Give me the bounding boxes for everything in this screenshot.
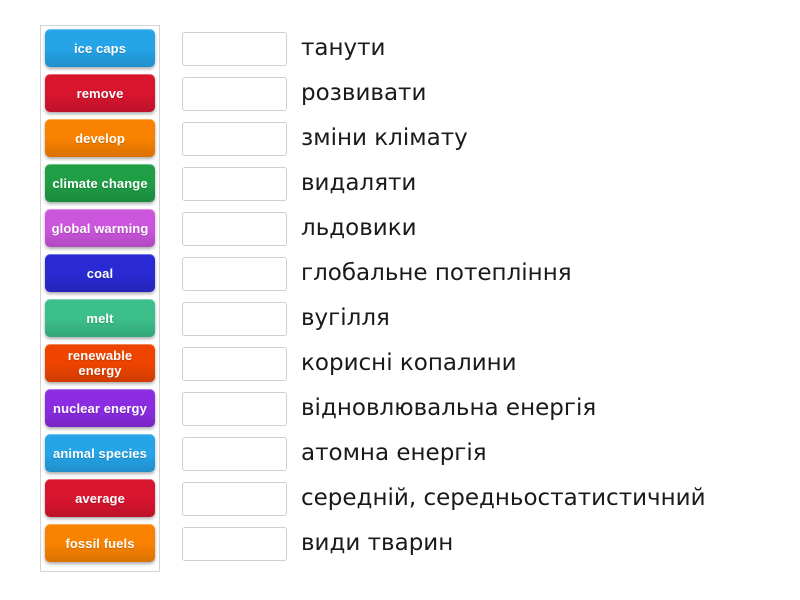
answer-row: середній, середньостатистичний [182,476,782,521]
tile-bank-panel: ice caps remove develop climate change g… [40,25,160,572]
drop-slot[interactable] [182,212,287,246]
answer-row: розвивати [182,71,782,116]
drop-slot[interactable] [182,347,287,381]
drop-slot[interactable] [182,302,287,336]
drop-slot[interactable] [182,482,287,516]
answer-text: танути [301,35,386,62]
drop-slot[interactable] [182,527,287,561]
draggable-tile-fossil-fuels[interactable]: fossil fuels [45,524,155,562]
answer-text: видаляти [301,170,416,197]
draggable-tile-animal-species[interactable]: animal species [45,434,155,472]
draggable-tile-develop[interactable]: develop [45,119,155,157]
draggable-tile-climate-change[interactable]: climate change [45,164,155,202]
draggable-tile-renewable-energy[interactable]: renewable energy [45,344,155,382]
tile-label: develop [48,131,152,146]
answer-row: вугілля [182,296,782,341]
answer-text: середній, середньостатистичний [301,485,706,512]
tile-label: average [48,491,152,506]
answer-row: глобальне потепління [182,251,782,296]
draggable-tile-coal[interactable]: coal [45,254,155,292]
draggable-tile-remove[interactable]: remove [45,74,155,112]
tile-label: coal [48,266,152,281]
answer-text: льдовики [301,215,417,242]
tile-label: nuclear energy [48,401,152,416]
tile-label: ice caps [48,41,152,56]
drop-slot[interactable] [182,77,287,111]
tile-label: climate change [48,176,152,191]
drop-slot[interactable] [182,32,287,66]
draggable-tile-nuclear-energy[interactable]: nuclear energy [45,389,155,427]
tile-label: animal species [48,446,152,461]
answer-list: танути розвивати зміни клімату видаляти … [182,26,782,566]
drop-slot[interactable] [182,122,287,156]
answer-row: видаляти [182,161,782,206]
drop-slot[interactable] [182,392,287,426]
draggable-tile-global-warming[interactable]: global warming [45,209,155,247]
drop-slot[interactable] [182,257,287,291]
answer-text: розвивати [301,80,426,107]
answer-text: види тварин [301,530,453,557]
answer-row: льдовики [182,206,782,251]
answer-text: відновлювальна енергія [301,395,596,422]
answer-text: зміни клімату [301,125,468,152]
answer-row: відновлювальна енергія [182,386,782,431]
draggable-tile-average[interactable]: average [45,479,155,517]
tile-label: renewable energy [48,348,152,378]
answer-row: корисні копалини [182,341,782,386]
answer-row: атомна енергія [182,431,782,476]
match-up-activity-board: ice caps remove develop climate change g… [0,0,800,600]
answer-row: види тварин [182,521,782,566]
answer-text: вугілля [301,305,390,332]
answer-row: танути [182,26,782,71]
draggable-tile-ice-caps[interactable]: ice caps [45,29,155,67]
answer-text: глобальне потепління [301,260,572,287]
answer-text: корисні копалини [301,350,517,377]
tile-label: remove [48,86,152,101]
draggable-tile-melt[interactable]: melt [45,299,155,337]
tile-label: global warming [48,221,152,236]
tile-label: fossil fuels [48,536,152,551]
drop-slot[interactable] [182,437,287,471]
answer-text: атомна енергія [301,440,487,467]
drop-slot[interactable] [182,167,287,201]
tile-label: melt [48,311,152,326]
answer-row: зміни клімату [182,116,782,161]
